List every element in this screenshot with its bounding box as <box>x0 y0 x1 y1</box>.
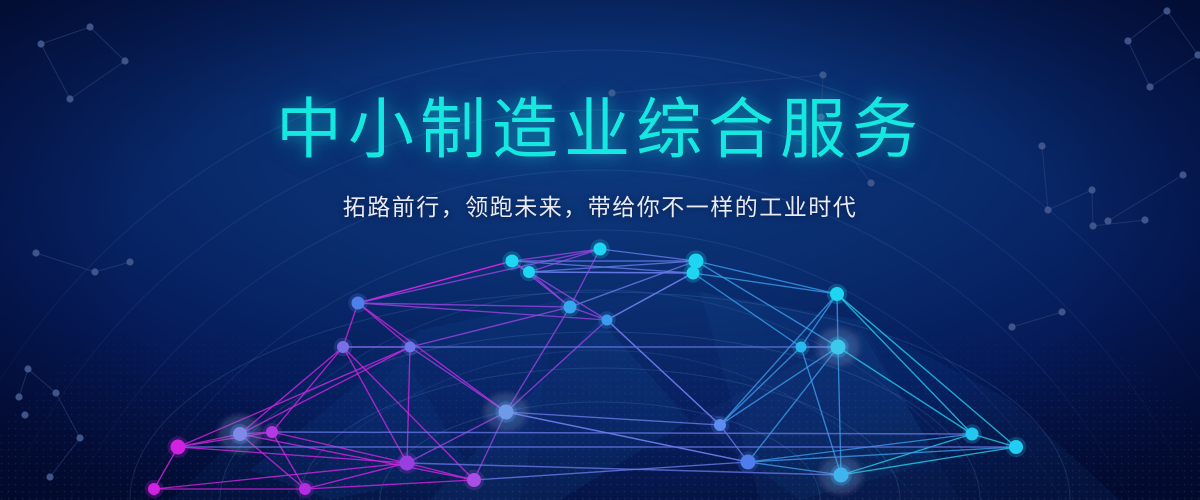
dome-node <box>830 287 844 301</box>
dome-node <box>266 426 278 438</box>
dome-node <box>405 342 416 353</box>
dome-node <box>337 341 349 353</box>
dome-node <box>506 255 519 268</box>
dome-node <box>299 483 311 495</box>
dome-node <box>831 340 846 355</box>
dome-node <box>834 468 849 483</box>
hero-banner: 中小制造业综合服务 拓路前行，领跑未来，带给你不一样的工业时代 <box>0 0 1200 500</box>
dome-edge <box>358 249 600 303</box>
dome-edge <box>600 249 696 261</box>
dome-node <box>594 243 607 256</box>
dome-node <box>499 405 514 420</box>
dome-node <box>1009 440 1023 454</box>
dome-node <box>796 342 807 353</box>
dome-node <box>741 455 756 470</box>
dome-node <box>966 428 979 441</box>
dome-node <box>171 440 186 455</box>
dome-node <box>687 267 700 280</box>
dome-node <box>714 419 726 431</box>
dome-node <box>352 297 365 310</box>
dome-node <box>233 427 247 441</box>
dome-latitude-line <box>529 272 693 273</box>
dome-node <box>602 315 613 326</box>
dome-edge <box>358 261 512 303</box>
dome-node <box>523 266 535 278</box>
dome-node <box>467 473 481 487</box>
dome-node <box>400 456 415 471</box>
dome-node <box>564 301 577 314</box>
wireframe-dome-network <box>0 0 1200 500</box>
dome-node <box>148 483 160 495</box>
dome-edge <box>693 273 837 294</box>
